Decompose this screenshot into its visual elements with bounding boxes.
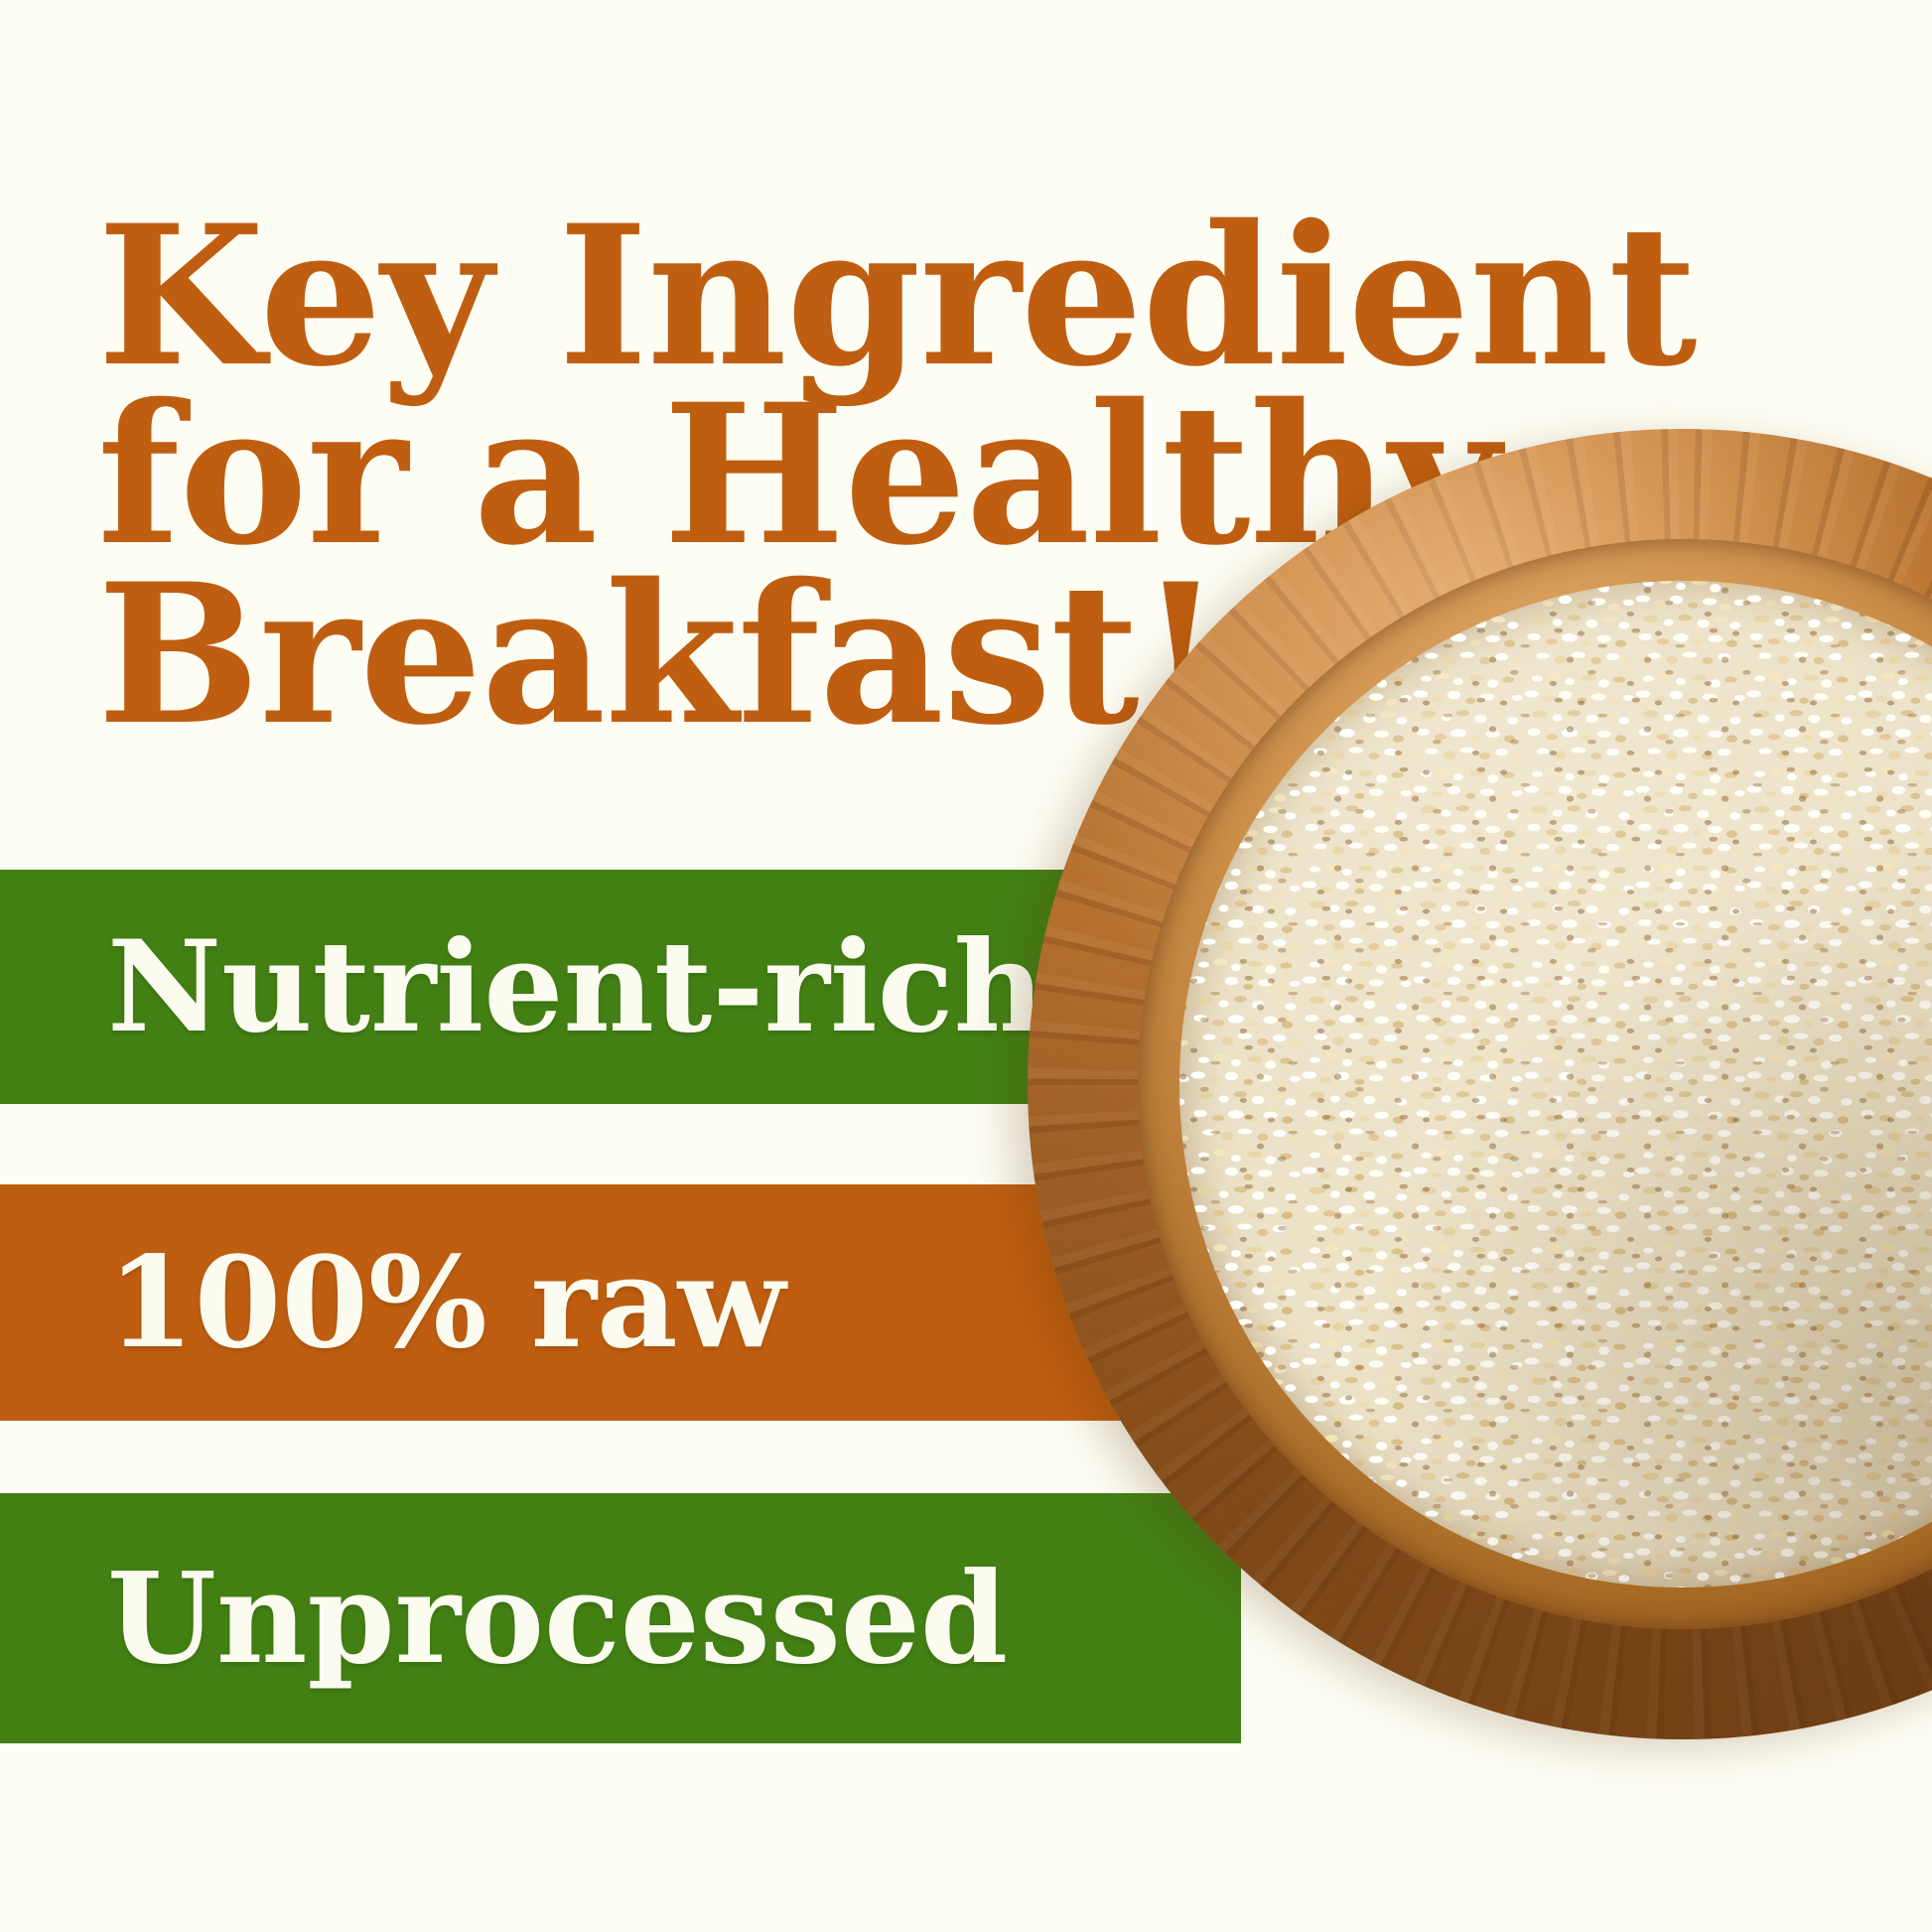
benefit-bar-label: Unprocessed xyxy=(0,1556,1008,1681)
page-title: Key Ingredient for a Healthy Breakfast! xyxy=(97,207,1507,744)
benefit-bar-100-percent-raw: 100% raw xyxy=(0,1184,1201,1421)
headline-line-2: for a Healthy xyxy=(97,385,1507,564)
benefit-bar-label: Nutrient-rich xyxy=(0,924,1044,1049)
benefit-bar-unprocessed: Unprocessed xyxy=(0,1493,1241,1743)
poster-canvas: Key Ingredient for a Healthy Breakfast! … xyxy=(0,0,1932,1932)
benefit-bar-label: 100% raw xyxy=(0,1240,785,1365)
headline-line-3: Breakfast! xyxy=(97,565,1507,744)
benefit-bar-nutrient-rich: Nutrient-rich xyxy=(0,870,1251,1104)
headline-line-1: Key Ingredient xyxy=(97,207,1507,385)
